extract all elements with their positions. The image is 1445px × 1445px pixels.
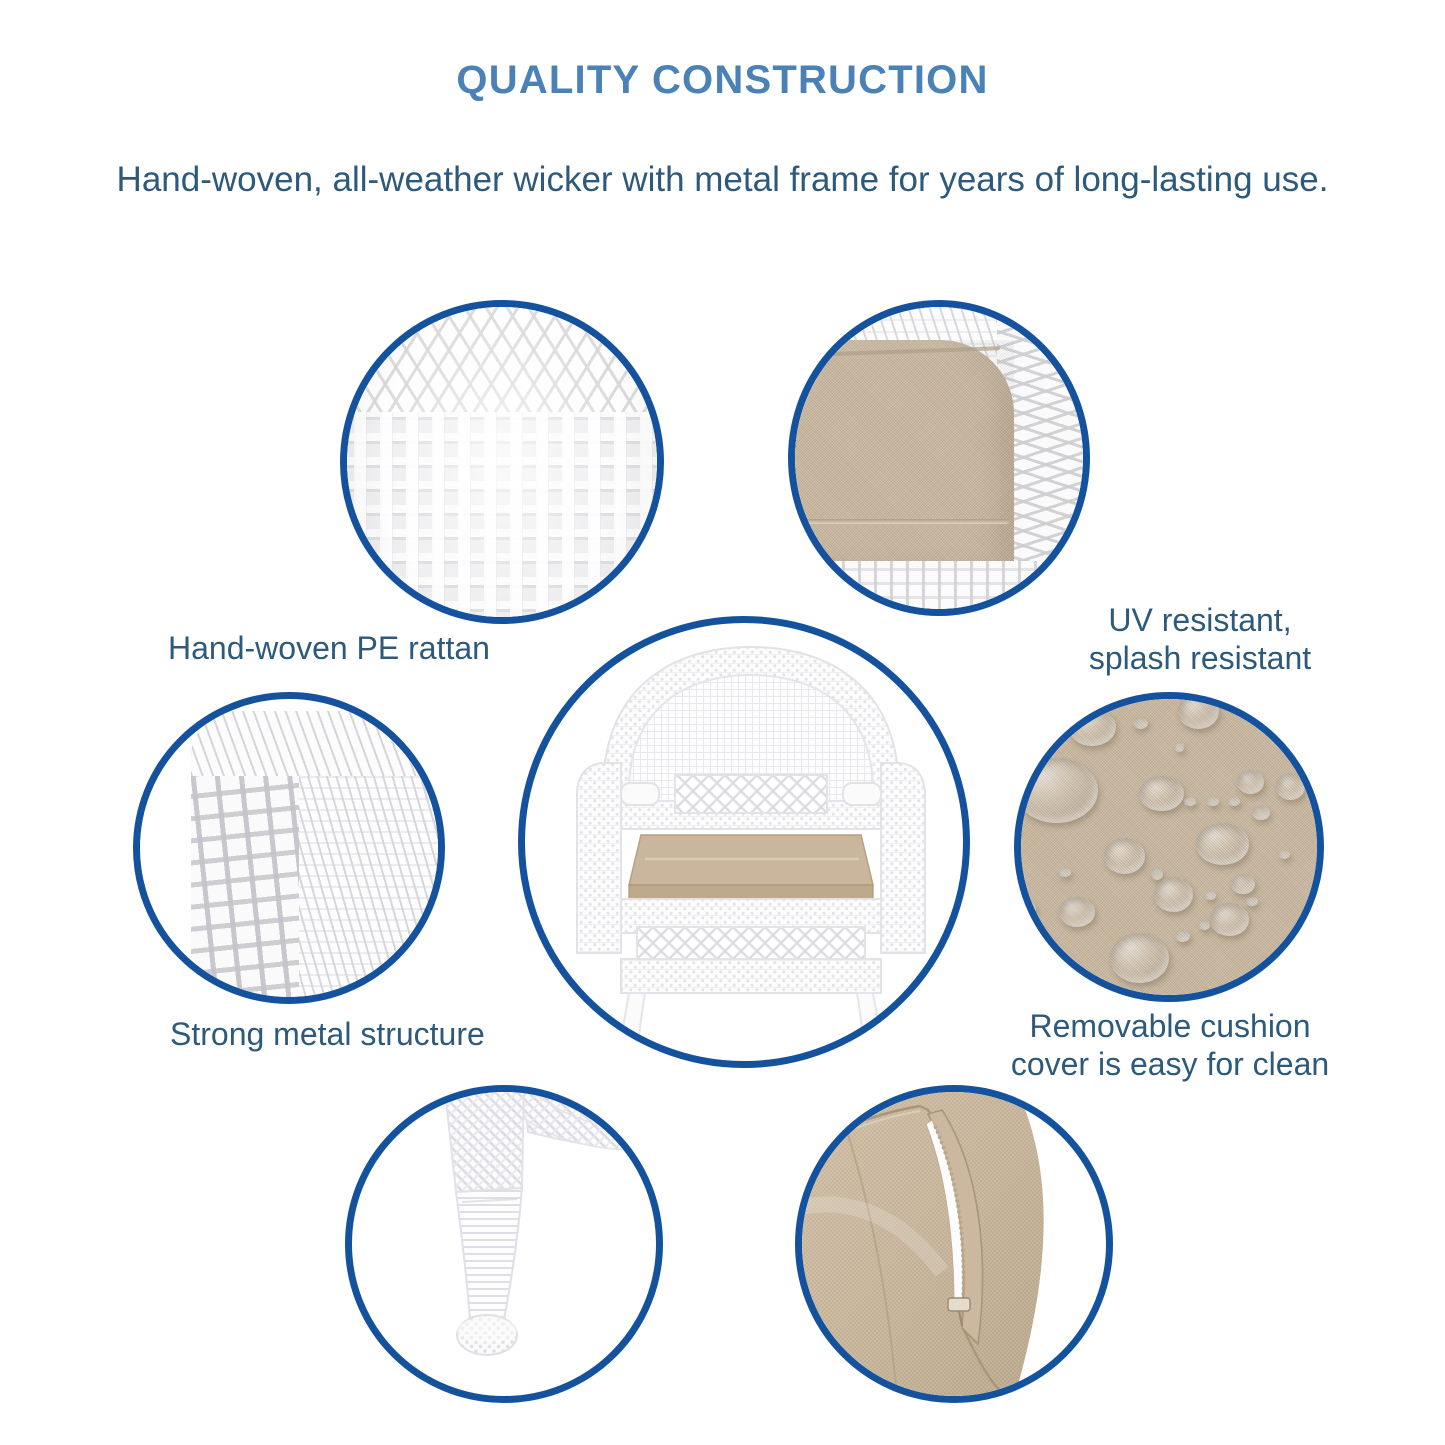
- page-title: QUALITY CONSTRUCTION: [0, 58, 1445, 103]
- water-droplet: [1139, 776, 1183, 812]
- water-droplet: [1175, 743, 1184, 752]
- water-droplet-photo: [1021, 699, 1317, 995]
- feature-circle-hand-woven-pe-rattan: [340, 300, 664, 624]
- water-droplet: [1210, 903, 1248, 936]
- water-droplet: [1228, 797, 1240, 806]
- chair-leg-photo: [352, 1092, 656, 1396]
- cushion-zipper-photo: [802, 1092, 1106, 1396]
- water-droplet: [1246, 897, 1258, 906]
- water-droplet: [1154, 877, 1192, 913]
- caption-removable-cushion-cover: Removable cushion cover is easy for clea…: [988, 1008, 1352, 1084]
- water-droplet: [1059, 897, 1095, 927]
- feature-circle-removable-cushion-cover: [1014, 692, 1324, 1002]
- rattan-weave-photo: [347, 307, 657, 617]
- water-droplet: [1151, 868, 1163, 880]
- water-droplet: [1059, 868, 1071, 877]
- water-droplet: [1276, 773, 1306, 800]
- fabric-weave-texture: [1021, 699, 1317, 995]
- water-droplet: [1252, 806, 1270, 821]
- water-droplet: [1199, 921, 1211, 930]
- wicker-armchair-illustration: [525, 623, 963, 1061]
- full-chair-photo: [525, 623, 963, 1061]
- armrest-weave-photo: [140, 699, 438, 997]
- infographic-page: QUALITY CONSTRUCTION Hand-woven, all-wea…: [0, 0, 1445, 1445]
- armrest-block: [191, 711, 438, 997]
- curvature-shading: [347, 307, 657, 617]
- armrest-top-cap: [191, 711, 438, 777]
- feature-circle-uv-splash-resistant: [788, 300, 1090, 616]
- feature-circle-wicker-wrapped-leg: [345, 1085, 663, 1403]
- page-subtitle: Hand-woven, all-weather wicker with meta…: [0, 160, 1445, 200]
- water-droplet: [1175, 930, 1190, 942]
- cushion-zipper-illustration: [802, 1092, 1106, 1396]
- caption-uv-splash-resistant: UV resistant, splash resistant: [1040, 602, 1360, 678]
- water-droplet: [1133, 717, 1148, 729]
- water-droplet: [1237, 770, 1264, 794]
- cushion-piping-seam: [795, 519, 1009, 524]
- water-droplet: [1207, 797, 1219, 806]
- wicker-leg-illustration: [352, 1092, 656, 1396]
- water-droplet: [1279, 850, 1291, 859]
- water-droplet: [1110, 933, 1169, 983]
- cushion-fabric-weave: [795, 340, 1014, 579]
- feature-circle-full-chair: [518, 616, 970, 1068]
- caption-strong-metal-structure: Strong metal structure: [170, 1016, 640, 1054]
- water-droplet: [1196, 823, 1249, 864]
- feature-circle-cushion-zipper: [795, 1085, 1113, 1403]
- beige-fabric-base: [1021, 699, 1317, 995]
- caption-hand-woven-pe-rattan: Hand-woven PE rattan: [168, 630, 628, 668]
- water-droplet: [1184, 797, 1196, 806]
- feature-circle-strong-metal-structure: [133, 692, 445, 1004]
- water-droplet: [1104, 838, 1145, 874]
- cushion-on-wicker-photo: [795, 307, 1083, 609]
- water-droplet: [1068, 708, 1115, 746]
- water-droplet: [1231, 874, 1255, 895]
- cushion-shape: [795, 340, 1014, 579]
